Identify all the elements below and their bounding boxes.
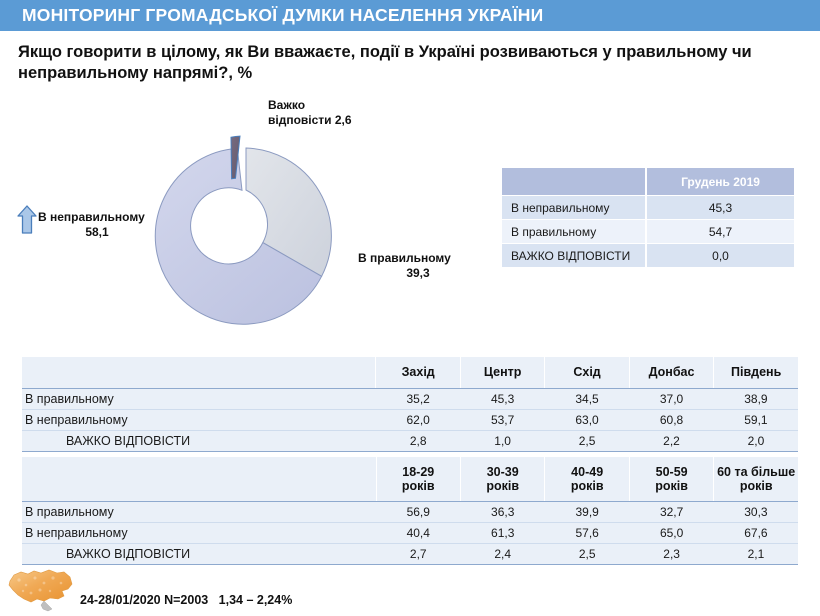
region-row-value: 37,0 bbox=[629, 389, 714, 410]
age-row-value: 30,3 bbox=[714, 502, 798, 523]
donut-chart: Важко відповісти 2,6 В правильному 39,3 … bbox=[0, 96, 480, 346]
age-header-60-plus-line2: років bbox=[714, 479, 798, 494]
age-row-value: 2,4 bbox=[460, 544, 544, 565]
header-band: МОНІТОРИНГ ГРОМАДСЬКОЇ ДУМКИ НАСЕЛЕННЯ У… bbox=[0, 0, 820, 31]
region-row-label: В правильному bbox=[22, 389, 376, 410]
donut-label-pravylnomu-value: 39,3 bbox=[358, 266, 478, 281]
question-title: Якщо говорити в цілому, як Ви вважаєте, … bbox=[18, 42, 788, 84]
age-breakdown-table: 18-29 років 30-39 років 40-49 років 50-5… bbox=[22, 457, 798, 565]
region-row-value: 35,2 bbox=[376, 389, 460, 410]
donut-label-nepravylnomu: В неправильному 58,1 bbox=[38, 210, 156, 240]
age-row-value: 56,9 bbox=[376, 502, 460, 523]
region-header-shid: Схід bbox=[545, 357, 629, 389]
region-row-value: 2,2 bbox=[629, 431, 714, 452]
donut-svg bbox=[146, 134, 350, 338]
age-row-value: 2,7 bbox=[376, 544, 460, 565]
page-title: МОНІТОРИНГ ГРОМАДСЬКОЇ ДУМКИ НАСЕЛЕННЯ У… bbox=[22, 5, 543, 26]
age-row-value: 2,1 bbox=[714, 544, 798, 565]
month-row-label: В неправильному bbox=[502, 196, 646, 220]
region-row-value: 2,5 bbox=[545, 431, 629, 452]
donut-label-vazhko-line2: відповісти 2,6 bbox=[268, 113, 388, 128]
month-comparison-table: Грудень 2019 В неправильному 45,3 В прав… bbox=[502, 168, 794, 267]
month-row-value: 45,3 bbox=[646, 196, 794, 220]
donut-label-pravylnomu-name: В правильному bbox=[358, 251, 478, 266]
age-row-value: 39,9 bbox=[545, 502, 629, 523]
survey-note: 24-28/01/2020 N=2003 1,34 – 2,24% bbox=[80, 593, 292, 607]
month-table-header-row: Грудень 2019 bbox=[502, 168, 794, 196]
region-row-value: 2,0 bbox=[714, 431, 798, 452]
age-row-value: 61,3 bbox=[460, 523, 544, 544]
region-table-header-row: Захід Центр Схід Донбас Південь bbox=[22, 357, 798, 389]
footer: 24-28/01/2020 N=2003 1,34 – 2,24% bbox=[0, 563, 820, 616]
table-row: В неправильному 62,0 53,7 63,0 60,8 59,1 bbox=[22, 410, 798, 431]
donut-label-vazhko-line1: Важко bbox=[268, 98, 388, 113]
age-row-label: ВАЖКО ВІДПОВІСТИ bbox=[22, 544, 376, 565]
age-header-30-39-line1: 30-39 bbox=[461, 465, 544, 480]
age-header-50-59-line2: років bbox=[630, 479, 713, 494]
table-row: ВАЖКО ВІДПОВІСТИ 0,0 bbox=[502, 244, 794, 268]
donut-label-pravylnomu: В правильному 39,3 bbox=[358, 251, 478, 281]
table-row: В правильному 56,9 36,3 39,9 32,7 30,3 bbox=[22, 502, 798, 523]
age-row-value: 2,5 bbox=[545, 544, 629, 565]
age-header-18-29-line1: 18-29 bbox=[377, 465, 460, 480]
donut-label-nepravylnomu-value: 58,1 bbox=[38, 225, 156, 240]
region-row-label: В неправильному bbox=[22, 410, 376, 431]
region-row-value: 45,3 bbox=[460, 389, 544, 410]
month-row-value: 0,0 bbox=[646, 244, 794, 268]
region-header-blank bbox=[22, 357, 376, 389]
age-header-40-49: 40-49 років bbox=[545, 457, 629, 502]
age-header-60-plus-line1: 60 та більше bbox=[714, 465, 798, 480]
region-header-donbas: Донбас bbox=[629, 357, 714, 389]
age-row-value: 65,0 bbox=[629, 523, 713, 544]
region-row-value: 59,1 bbox=[714, 410, 798, 431]
ukraine-map-icon bbox=[4, 565, 76, 613]
table-row: ВАЖКО ВІДПОВІСТИ 2,7 2,4 2,5 2,3 2,1 bbox=[22, 544, 798, 565]
table-row: В неправильному 40,4 61,3 57,6 65,0 67,6 bbox=[22, 523, 798, 544]
age-row-value: 32,7 bbox=[629, 502, 713, 523]
age-header-18-29: 18-29 років bbox=[376, 457, 460, 502]
region-row-value: 2,8 bbox=[376, 431, 460, 452]
donut-label-nepravylnomu-name: В неправильному bbox=[38, 210, 156, 225]
age-header-40-49-line1: 40-49 bbox=[545, 465, 628, 480]
region-row-value: 62,0 bbox=[376, 410, 460, 431]
table-row: В правильному 54,7 bbox=[502, 220, 794, 244]
month-table-header-blank bbox=[502, 168, 646, 196]
age-header-50-59-line1: 50-59 bbox=[630, 465, 713, 480]
age-row-value: 40,4 bbox=[376, 523, 460, 544]
region-row-label: ВАЖКО ВІДПОВІСТИ bbox=[22, 431, 376, 452]
table-row: ВАЖКО ВІДПОВІСТИ 2,8 1,0 2,5 2,2 2,0 bbox=[22, 431, 798, 452]
region-row-value: 60,8 bbox=[629, 410, 714, 431]
region-row-value: 38,9 bbox=[714, 389, 798, 410]
region-row-value: 34,5 bbox=[545, 389, 629, 410]
age-header-30-39-line2: років bbox=[461, 479, 544, 494]
age-header-40-49-line2: років bbox=[545, 479, 628, 494]
month-table-header-december: Грудень 2019 bbox=[646, 168, 794, 196]
table-row: В правильному 35,2 45,3 34,5 37,0 38,9 bbox=[22, 389, 798, 410]
age-row-label: В неправильному bbox=[22, 523, 376, 544]
region-row-value: 63,0 bbox=[545, 410, 629, 431]
age-header-blank bbox=[22, 457, 376, 502]
month-row-label: ВАЖКО ВІДПОВІСТИ bbox=[502, 244, 646, 268]
age-row-value: 67,6 bbox=[714, 523, 798, 544]
age-header-18-29-line2: років bbox=[377, 479, 460, 494]
region-row-value: 53,7 bbox=[460, 410, 544, 431]
age-header-50-59: 50-59 років bbox=[629, 457, 713, 502]
region-row-value: 1,0 bbox=[460, 431, 544, 452]
age-header-60-plus: 60 та більше років bbox=[714, 457, 798, 502]
age-row-value: 57,6 bbox=[545, 523, 629, 544]
region-header-tsentr: Центр bbox=[460, 357, 544, 389]
donut-label-vazhko: Важко відповісти 2,6 bbox=[268, 98, 388, 128]
age-header-30-39: 30-39 років bbox=[460, 457, 544, 502]
region-header-pivden: Південь bbox=[714, 357, 798, 389]
table-row: В неправильному 45,3 bbox=[502, 196, 794, 220]
region-breakdown-table: Захід Центр Схід Донбас Південь В правил… bbox=[22, 357, 798, 452]
age-row-value: 36,3 bbox=[460, 502, 544, 523]
age-table-header-row: 18-29 років 30-39 років 40-49 років 50-5… bbox=[22, 457, 798, 502]
region-header-zahid: Захід bbox=[376, 357, 460, 389]
age-row-value: 2,3 bbox=[629, 544, 713, 565]
donut-graphic bbox=[146, 134, 350, 338]
arrow-up-icon bbox=[16, 205, 38, 235]
month-row-label: В правильному bbox=[502, 220, 646, 244]
age-row-label: В правильному bbox=[22, 502, 376, 523]
month-row-value: 54,7 bbox=[646, 220, 794, 244]
